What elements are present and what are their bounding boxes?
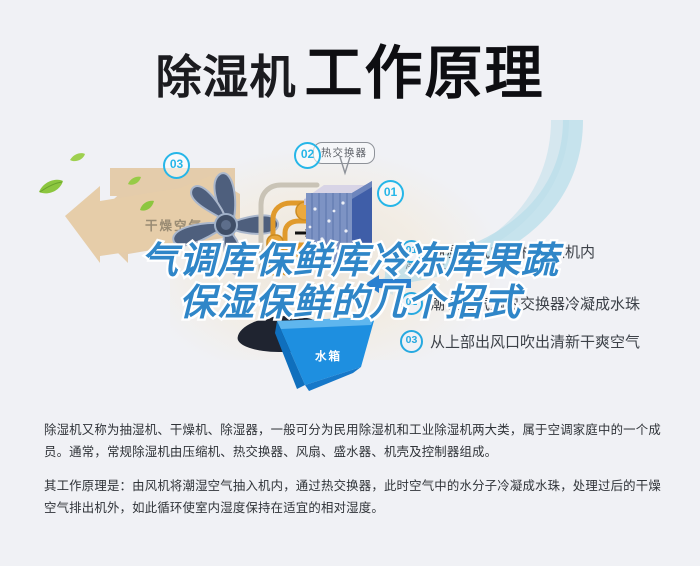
leaf-icon (38, 178, 64, 196)
dehumidifier-diagram: 干燥空气 (0, 120, 700, 410)
infographic-page: 除湿机工作原理 干燥空气 (0, 0, 700, 566)
body-paragraph-2: 其工作原理是：由风机将潮湿空气抽入机内，通过热交换器，此时空气中的水分子冷凝成水… (44, 476, 664, 519)
title-main: 工作原理 (304, 41, 544, 106)
body-paragraph-1: 除湿机又称为抽湿机、干燥机、除湿器，一般可分为民用除湿机和工业除湿机两大类，属于… (44, 420, 664, 463)
caption-step-03: 03 从上部出风口吹出清新干爽空气 (400, 330, 640, 353)
badge-03: 03 (163, 152, 190, 179)
leaf-icon (139, 200, 154, 212)
title-prefix: 除湿机 (155, 51, 296, 103)
water-tank-label: 水箱 (315, 348, 342, 364)
humid-air-sweep (355, 120, 605, 295)
caption-num-01: 01 (400, 240, 423, 263)
page-title: 除湿机工作原理 (0, 26, 700, 110)
caption-text-02: 潮湿空气遇热交换器冷凝成水珠 (430, 293, 640, 314)
leaf-icon (128, 176, 141, 186)
badge-01: 01 (377, 180, 404, 207)
caption-num-02: 02 (400, 292, 423, 315)
badge-02: 02 (294, 142, 321, 169)
leaf-icon (70, 152, 85, 163)
caption-step-02: 02 潮湿空气遇热交换器冷凝成水珠 (400, 292, 640, 315)
caption-text-01: 潮湿空气由风机抽入机内 (430, 241, 595, 262)
callout-pointer-icon (338, 157, 352, 177)
caption-text-03: 从上部出风口吹出清新干爽空气 (430, 331, 640, 352)
caption-num-03: 03 (400, 330, 423, 353)
humid-air-arrow-icon (365, 275, 411, 293)
body-text: 除湿机又称为抽湿机、干燥机、除湿器，一般可分为民用除湿机和工业除湿机两大类，属于… (44, 420, 664, 530)
caption-step-01: 01 潮湿空气由风机抽入机内 (400, 240, 595, 263)
